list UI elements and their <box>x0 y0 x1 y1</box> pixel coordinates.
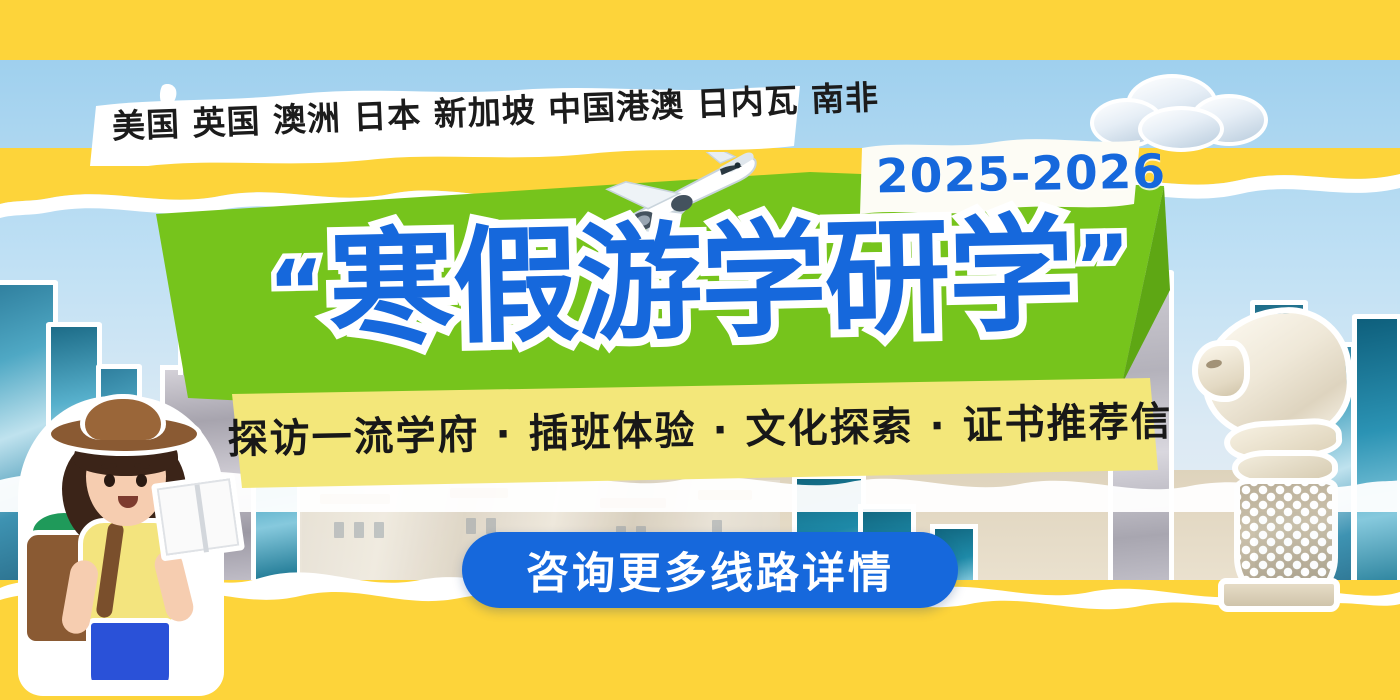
open-book-icon <box>151 473 245 562</box>
consult-routes-label: 咨询更多线路详情 <box>526 539 894 601</box>
consult-routes-button[interactable]: 咨询更多线路详情 <box>462 532 958 608</box>
promo-banner: 美国 英国 澳洲 日本 新加坡 中国港澳 日内瓦 南非 2025-2026 “ … <box>0 0 1400 700</box>
quote-close-icon: ” <box>1074 224 1132 311</box>
quote-open-icon: “ <box>268 249 326 336</box>
year-badge: 2025-2026 <box>876 144 1167 204</box>
main-title-group: “ 寒假游学研学 ” <box>0 198 1400 368</box>
traveler-girl-mascot <box>10 390 240 700</box>
page-title: 寒假游学研学 <box>328 211 1075 355</box>
